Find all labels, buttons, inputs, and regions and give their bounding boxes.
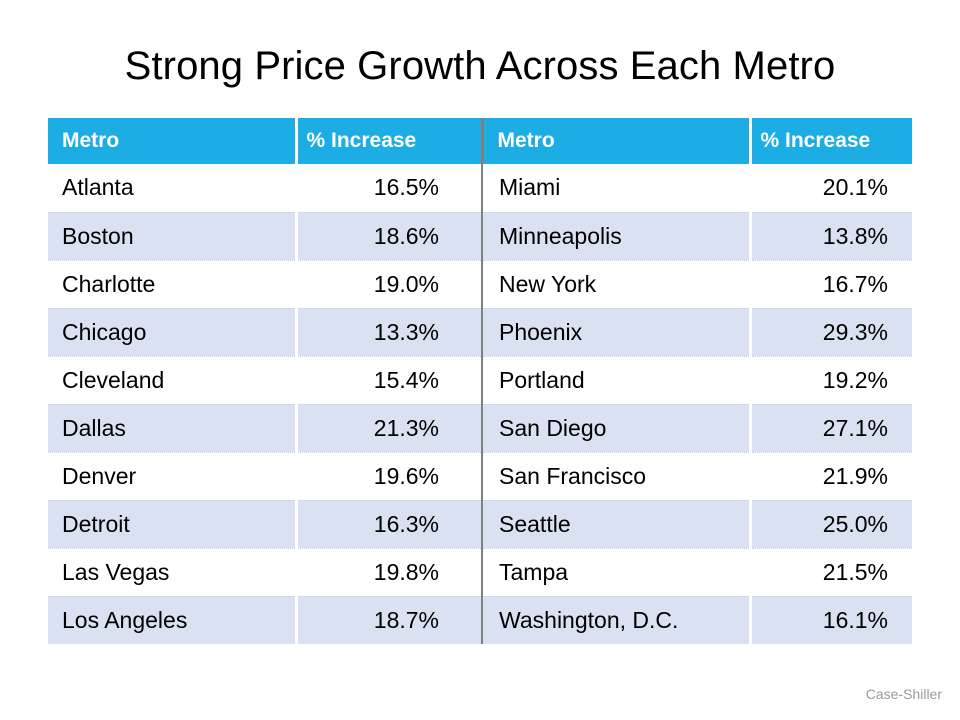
column-header-pct-right: % Increase <box>750 118 912 164</box>
cell-pct-right: 16.7% <box>750 260 912 308</box>
table-row: Cleveland15.4%Portland19.2% <box>48 356 912 404</box>
column-header-pct-left: % Increase <box>296 118 482 164</box>
cell-metro-left: Los Angeles <box>48 596 296 644</box>
table-row: Atlanta16.5%Miami20.1% <box>48 164 912 212</box>
table-header-row: Metro % Increase Metro % Increase <box>48 118 912 164</box>
cell-pct-left: 19.6% <box>296 452 482 500</box>
table-row: Las Vegas19.8%Tampa21.5% <box>48 548 912 596</box>
slide-root: Strong Price Growth Across Each Metro Me… <box>0 0 960 720</box>
cell-pct-right: 29.3% <box>750 308 912 356</box>
cell-pct-left: 19.8% <box>296 548 482 596</box>
cell-pct-left: 19.0% <box>296 260 482 308</box>
cell-metro-right: Minneapolis <box>482 212 750 260</box>
cell-metro-right: Washington, D.C. <box>482 596 750 644</box>
metro-price-growth-table: Metro % Increase Metro % Increase Atlant… <box>48 118 912 644</box>
cell-metro-right: San Francisco <box>482 452 750 500</box>
cell-pct-right: 16.1% <box>750 596 912 644</box>
cell-pct-right: 25.0% <box>750 500 912 548</box>
cell-metro-left: Cleveland <box>48 356 296 404</box>
table-body: Atlanta16.5%Miami20.1%Boston18.6%Minneap… <box>48 164 912 644</box>
cell-metro-right: Phoenix <box>482 308 750 356</box>
cell-metro-left: Dallas <box>48 404 296 452</box>
table-row: Detroit16.3%Seattle25.0% <box>48 500 912 548</box>
cell-pct-right: 21.9% <box>750 452 912 500</box>
cell-metro-left: Charlotte <box>48 260 296 308</box>
cell-pct-left: 21.3% <box>296 404 482 452</box>
table-row: Boston18.6%Minneapolis13.8% <box>48 212 912 260</box>
cell-pct-left: 16.3% <box>296 500 482 548</box>
table-row: Dallas21.3%San Diego27.1% <box>48 404 912 452</box>
cell-metro-right: Seattle <box>482 500 750 548</box>
cell-pct-left: 18.7% <box>296 596 482 644</box>
cell-pct-left: 16.5% <box>296 164 482 212</box>
cell-metro-left: Denver <box>48 452 296 500</box>
cell-pct-left: 18.6% <box>296 212 482 260</box>
cell-metro-right: Portland <box>482 356 750 404</box>
cell-pct-right: 27.1% <box>750 404 912 452</box>
table-row: Los Angeles18.7%Washington, D.C.16.1% <box>48 596 912 644</box>
cell-metro-left: Detroit <box>48 500 296 548</box>
source-attribution: Case-Shiller <box>866 686 942 702</box>
cell-metro-right: New York <box>482 260 750 308</box>
column-header-metro-left: Metro <box>48 118 296 164</box>
cell-metro-right: Miami <box>482 164 750 212</box>
table-row: Charlotte19.0%New York16.7% <box>48 260 912 308</box>
cell-metro-left: Chicago <box>48 308 296 356</box>
cell-pct-right: 21.5% <box>750 548 912 596</box>
cell-pct-right: 20.1% <box>750 164 912 212</box>
cell-metro-right: Tampa <box>482 548 750 596</box>
page-title: Strong Price Growth Across Each Metro <box>0 44 960 88</box>
cell-metro-right: San Diego <box>482 404 750 452</box>
cell-pct-right: 13.8% <box>750 212 912 260</box>
column-header-metro-right: Metro <box>482 118 750 164</box>
cell-pct-left: 13.3% <box>296 308 482 356</box>
table-row: Chicago13.3%Phoenix29.3% <box>48 308 912 356</box>
cell-pct-right: 19.2% <box>750 356 912 404</box>
table-header: Metro % Increase Metro % Increase <box>48 118 912 164</box>
cell-pct-left: 15.4% <box>296 356 482 404</box>
cell-metro-left: Las Vegas <box>48 548 296 596</box>
table-row: Denver19.6%San Francisco21.9% <box>48 452 912 500</box>
cell-metro-left: Atlanta <box>48 164 296 212</box>
cell-metro-left: Boston <box>48 212 296 260</box>
